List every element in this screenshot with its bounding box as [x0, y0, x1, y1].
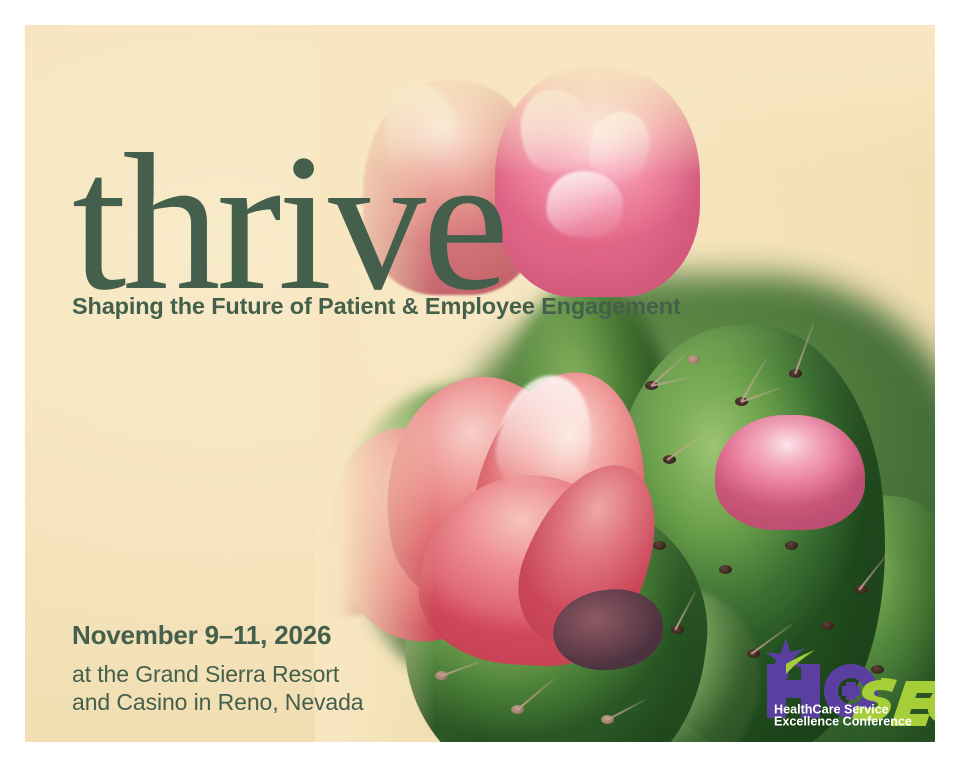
- event-venue-line-1: at the Grand Sierra Resort: [72, 660, 363, 688]
- cactus-blossom-foreground: [325, 365, 665, 665]
- event-venue: at the Grand Sierra Resort and Casino in…: [72, 660, 363, 717]
- cactus-areole: [719, 565, 732, 574]
- event-details: November 9–11, 2026 at the Grand Sierra …: [72, 620, 363, 717]
- poster-frame: thrive Shaping the Future of Patient & E…: [0, 0, 960, 767]
- event-venue-line-2: and Casino in Reno, Nevada: [72, 688, 363, 716]
- tagline: Shaping the Future of Patient & Employee…: [72, 293, 681, 320]
- medical-cross-icon: [842, 682, 860, 700]
- hcsec-logo[interactable]: HealthCare Service Excellence Conference: [755, 636, 935, 728]
- cactus-bud-middle-right: [715, 415, 865, 530]
- logo-subtitle-line-2: Excellence Conference: [774, 715, 912, 729]
- cactus-areole: [687, 355, 700, 364]
- petal-frill: [513, 83, 599, 178]
- page-title: thrive: [72, 125, 505, 321]
- event-date: November 9–11, 2026: [72, 620, 363, 651]
- cactus-areole: [785, 541, 798, 550]
- cactus-areole: [821, 621, 834, 630]
- cactus-bud-upper-right: [495, 67, 700, 297]
- poster-canvas: thrive Shaping the Future of Patient & E…: [25, 25, 935, 742]
